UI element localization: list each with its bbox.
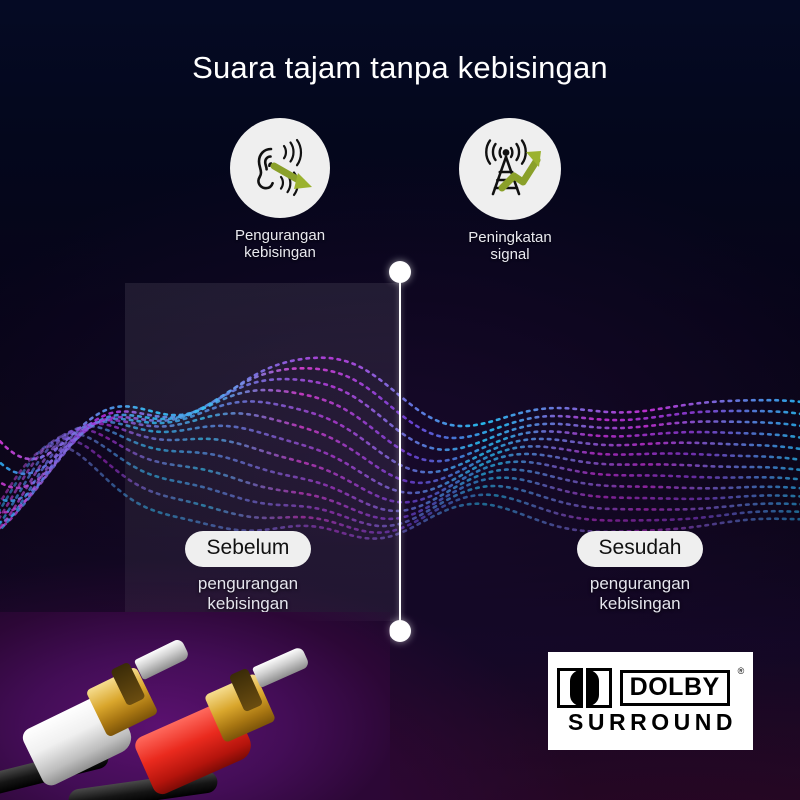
feature-noise-reduction: Pengurangan kebisingan bbox=[190, 118, 370, 262]
dolby-subtitle: SURROUND bbox=[568, 711, 737, 734]
feature-caption-line2: kebisingan bbox=[190, 244, 370, 261]
after-subtext-line1: pengurangan bbox=[520, 574, 760, 594]
double-d-icon bbox=[557, 668, 612, 708]
registered-mark: ® bbox=[738, 666, 745, 676]
comparison-divider-handle-top[interactable] bbox=[389, 261, 411, 283]
feature-caption-line1: Pengurangan bbox=[190, 227, 370, 244]
comparison-divider-handle-bottom[interactable] bbox=[389, 620, 411, 642]
before-pill: Sebelum bbox=[185, 531, 312, 567]
feature-signal-boost: Peningkatan signal bbox=[420, 118, 600, 264]
after-subtext-line2: kebisingan bbox=[520, 594, 760, 614]
promo-poster: Suara tajam tanpa kebisingan bbox=[0, 0, 800, 800]
before-label-group: Sebelum pengurangan kebisingan bbox=[128, 531, 368, 614]
feature-caption: Pengurangan kebisingan bbox=[190, 227, 370, 262]
comparison-divider-line[interactable] bbox=[399, 265, 401, 637]
after-pill: Sesudah bbox=[577, 531, 704, 567]
before-subtext: pengurangan kebisingan bbox=[128, 574, 368, 614]
feature-caption-line2: signal bbox=[420, 246, 600, 263]
after-subtext: pengurangan kebisingan bbox=[520, 574, 760, 614]
page-title: Suara tajam tanpa kebisingan bbox=[0, 50, 800, 86]
signal-tower-boost-icon bbox=[459, 118, 561, 220]
dolby-word: DOLBY bbox=[620, 670, 730, 706]
feature-caption: Peningkatan signal bbox=[420, 229, 600, 264]
dolby-surround-logo: DOLBY ® SURROUND bbox=[548, 652, 753, 750]
dolby-wordmark-row: DOLBY ® bbox=[557, 668, 745, 708]
feature-caption-line1: Peningkatan bbox=[420, 229, 600, 246]
rca-stereo-cable-photo bbox=[0, 612, 390, 800]
after-label-group: Sesudah pengurangan kebisingan bbox=[520, 531, 760, 614]
ear-noise-reduction-icon bbox=[230, 118, 330, 218]
before-subtext-line1: pengurangan bbox=[128, 574, 368, 594]
